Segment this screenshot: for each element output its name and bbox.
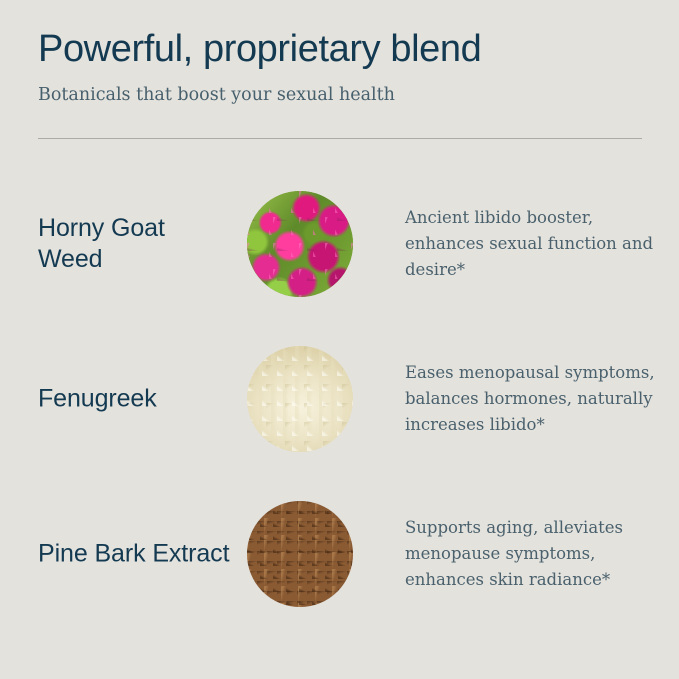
ingredient-description: Eases menopausal symptoms, balances horm… [405, 360, 655, 438]
list-item: Pine Bark Extract Supports aging, allevi… [0, 476, 679, 631]
list-item: Fenugreek Eases menopausal symptoms, bal… [0, 321, 679, 476]
powder-photo [247, 346, 353, 452]
page-title: Powerful, proprietary blend [38, 26, 642, 72]
page-subtitle: Botanicals that boost your sexual health [38, 83, 642, 107]
panel-header: Powerful, proprietary blend Botanicals t… [38, 26, 642, 107]
ingredient-image-pine-bark [247, 501, 353, 607]
flowers-photo [247, 191, 353, 297]
ingredient-name: Pine Bark Extract [38, 538, 233, 569]
ingredient-name: Horny Goat Weed [38, 213, 233, 275]
list-item: Horny Goat Weed Ancient libido booster, … [0, 166, 679, 321]
ingredient-name: Fenugreek [38, 383, 233, 414]
ingredient-image-fenugreek [247, 346, 353, 452]
header-divider [38, 138, 642, 139]
ingredient-list: Horny Goat Weed Ancient libido booster, … [0, 166, 679, 631]
ingredient-image-horny-goat-weed [247, 191, 353, 297]
bark-photo [247, 501, 353, 607]
ingredient-description: Ancient libido booster, enhances sexual … [405, 205, 655, 283]
ingredient-benefits-panel: Powerful, proprietary blend Botanicals t… [0, 0, 679, 679]
ingredient-description: Supports aging, alleviates menopause sym… [405, 515, 655, 593]
